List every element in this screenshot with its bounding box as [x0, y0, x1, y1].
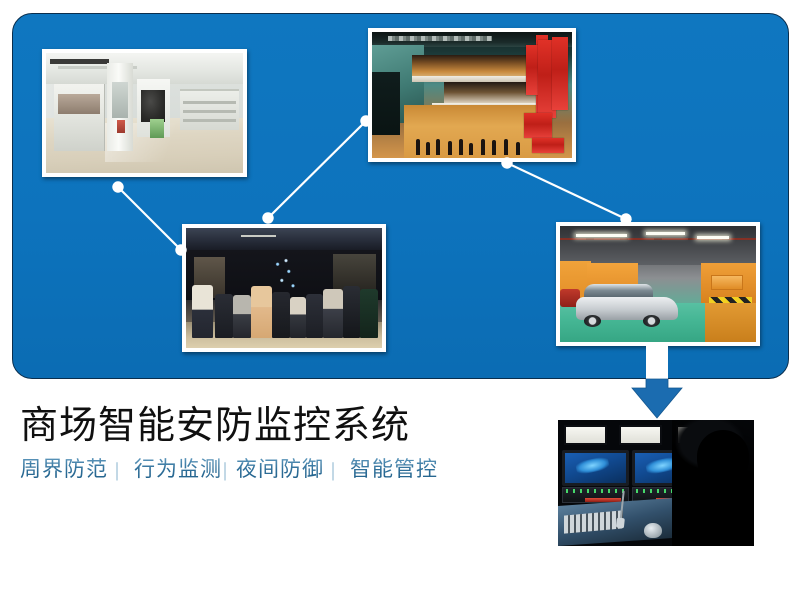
subtitle-item-perimeter: 周界防范 [20, 453, 108, 483]
photo-mall-counters[interactable] [42, 49, 247, 177]
garage-car-rear-wheel [643, 315, 660, 327]
control-room-status-leds-1 [566, 489, 625, 493]
crowd-shoppers [186, 264, 382, 338]
counters-left-counter [54, 84, 105, 151]
garage-light-1 [576, 234, 627, 237]
atrium-red-banner-2 [552, 37, 568, 110]
slide-canvas: 商场智能安防监控系统 周界防范 | 行为监测 | 夜间防御 | 智能管控 [0, 0, 800, 600]
photo-control-room-image [558, 420, 754, 546]
operator-shoulder [672, 468, 754, 546]
garage-light-3 [697, 236, 728, 239]
garage-hazard-stripe [709, 297, 752, 303]
counters-green-display [150, 119, 164, 138]
subtitle-separator-3: | [324, 459, 343, 482]
atrium-red-banner-4 [524, 113, 552, 138]
scene-mall-atrium [372, 32, 572, 158]
atrium-red-banner-3 [526, 45, 538, 95]
control-room-mouse [644, 523, 662, 538]
photo-mall-atrium-image [372, 32, 572, 158]
control-room-monitor-1 [562, 450, 629, 485]
scene-parking-garage [560, 226, 756, 342]
photo-parking-garage-image [560, 226, 756, 342]
scene-mall-counters [46, 53, 243, 173]
photo-mall-atrium[interactable] [368, 28, 576, 162]
atrium-shoppers [408, 113, 536, 156]
subtitle-separator-1: | [108, 459, 127, 482]
subtitle-item-management: 智能管控 [350, 453, 438, 483]
atrium-left-shadow [372, 72, 400, 135]
photo-mall-counters-image [46, 53, 243, 173]
scene-control-room [558, 420, 754, 546]
garage-light-2 [646, 232, 685, 235]
scene-mall-crowd [186, 228, 382, 348]
title-block: 商场智能安防监控系统 周界防范 | 行为监测 | 夜间防御 | 智能管控 [20, 405, 540, 483]
subtitle-item-night: 夜间防御 [236, 453, 324, 483]
garage-silver-car [576, 282, 678, 328]
counters-red-display [117, 120, 125, 133]
atrium-red-banner-5 [532, 138, 564, 153]
control-room-operator-silhouette [672, 420, 754, 546]
counters-right-shelving [180, 89, 239, 130]
subtitle-item-behavior: 行为监测 [134, 453, 222, 483]
counters-pillar [107, 63, 133, 152]
garage-car-front-wheel [584, 315, 601, 327]
subtitle-separator-2: | [222, 459, 229, 482]
page-title: 商场智能安防监控系统 [20, 405, 540, 448]
photo-mall-crowd[interactable] [182, 224, 386, 352]
photo-mall-crowd-image [186, 228, 382, 348]
control-room-window-1 [564, 425, 607, 445]
control-room-window-2 [619, 425, 662, 445]
photo-control-room[interactable] [558, 420, 754, 546]
atrium-level-two [412, 55, 528, 83]
photo-parking-garage[interactable] [556, 222, 760, 346]
subtitle-row: 周界防范 | 行为监测 | 夜间防御 | 智能管控 [20, 453, 540, 483]
